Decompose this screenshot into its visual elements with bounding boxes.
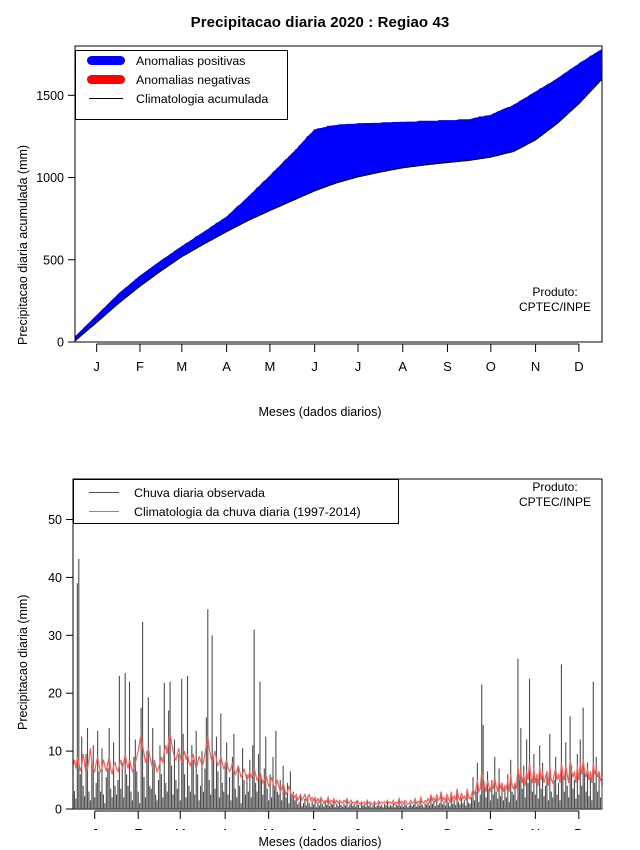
- x-tick-label-top-10: N: [531, 359, 540, 374]
- y-tick-label-top-3: 1500: [36, 89, 64, 103]
- black-line-icon: [85, 98, 127, 99]
- x-tick-label-top-3: A: [222, 359, 231, 374]
- y-tick-label-bottom-5: 50: [48, 513, 62, 527]
- x-tick-label-bottom-9: O: [485, 826, 495, 830]
- produto-source-bottom: CPTEC/INPE: [495, 495, 615, 510]
- legend-item-anomalias-positivas: Anomalias positivas: [76, 51, 287, 70]
- produto-annotation-top: Produto: CPTEC/INPE: [495, 285, 615, 315]
- legend-item-climatologia-acumulada: Climatologia acumulada: [76, 89, 287, 108]
- daily-chart-svg: 01020304050JFMAMJJASOND: [0, 470, 640, 830]
- legend-item-anomalias-negativas: Anomalias negativas: [76, 70, 287, 89]
- x-tick-label-bottom-1: F: [134, 826, 142, 830]
- x-tick-label-top-5: J: [311, 359, 318, 374]
- daily-precipitation-panel: Precipitacao diaria (mm) 01020304050JFMA…: [0, 430, 640, 850]
- x-axis-title-bottom: Meses (dados diarios): [0, 835, 640, 849]
- red-swatch-icon: [85, 75, 127, 84]
- produto-annotation-bottom: Produto: CPTEC/INPE: [495, 480, 615, 510]
- x-tick-label-top-7: A: [398, 359, 407, 374]
- produto-label-bottom: Produto:: [495, 480, 615, 495]
- y-tick-label-bottom-4: 40: [48, 571, 62, 585]
- x-tick-label-bottom-11: D: [574, 826, 583, 830]
- x-tick-label-bottom-2: M: [175, 826, 186, 830]
- x-tick-label-top-8: S: [443, 359, 452, 374]
- legend-label-1: Anomalias negativas: [136, 73, 250, 87]
- x-axis-title-top: Meses (dados diarios): [0, 405, 640, 419]
- legend-item-chuva-observada: Chuva diaria observada: [74, 483, 398, 502]
- legend-label-bot-1: Climatologia da chuva diaria (1997-2014): [134, 505, 361, 519]
- legend-item-climatologia-diaria: Climatologia da chuva diaria (1997-2014): [74, 502, 398, 521]
- y-tick-label-top-0: 0: [57, 336, 64, 350]
- accumulated-precipitation-panel: Precipitacao diaria 2020 : Regiao 43 Pre…: [0, 0, 640, 430]
- red-line-icon: [83, 511, 125, 512]
- x-tick-label-top-6: J: [355, 359, 362, 374]
- produto-source-top: CPTEC/INPE: [495, 300, 615, 315]
- x-tick-label-bottom-10: N: [531, 826, 540, 830]
- y-tick-label-bottom-3: 30: [48, 629, 62, 643]
- legend-label-2: Climatologia acumulada: [136, 92, 268, 106]
- y-tick-label-top-2: 1000: [36, 171, 64, 185]
- y-tick-label-bottom-2: 20: [48, 687, 62, 701]
- x-tick-label-bottom-0: J: [91, 826, 98, 830]
- x-tick-label-top-11: D: [574, 359, 583, 374]
- blue-swatch-icon: [85, 56, 127, 65]
- x-tick-label-bottom-3: A: [221, 826, 230, 830]
- legend-daily: Chuva diaria observada Climatologia da c…: [73, 479, 399, 524]
- x-tick-label-top-4: M: [264, 359, 275, 374]
- chart-page: Precipitacao diaria 2020 : Regiao 43 Pre…: [0, 0, 640, 850]
- y-tick-label-top-1: 500: [43, 253, 64, 267]
- produto-label-top: Produto:: [495, 285, 615, 300]
- x-tick-label-bottom-7: A: [398, 826, 407, 830]
- y-tick-label-bottom-1: 10: [48, 745, 62, 759]
- x-tick-label-bottom-8: S: [443, 826, 452, 830]
- legend-label-bot-0: Chuva diaria observada: [134, 486, 265, 500]
- x-tick-label-top-1: F: [136, 359, 144, 374]
- x-tick-label-top-9: O: [486, 359, 496, 374]
- legend-accumulated: Anomalias positivas Anomalias negativas …: [75, 50, 288, 120]
- x-tick-label-top-0: J: [93, 359, 100, 374]
- x-tick-label-bottom-6: J: [354, 826, 361, 830]
- observed-daily-bars: [73, 559, 602, 809]
- y-tick-label-bottom-0: 0: [55, 803, 62, 817]
- legend-label-0: Anomalias positivas: [136, 54, 246, 68]
- x-tick-label-top-2: M: [176, 359, 187, 374]
- x-tick-label-bottom-5: J: [310, 826, 317, 830]
- gray-line-icon: [83, 492, 125, 493]
- x-tick-label-bottom-4: M: [263, 826, 274, 830]
